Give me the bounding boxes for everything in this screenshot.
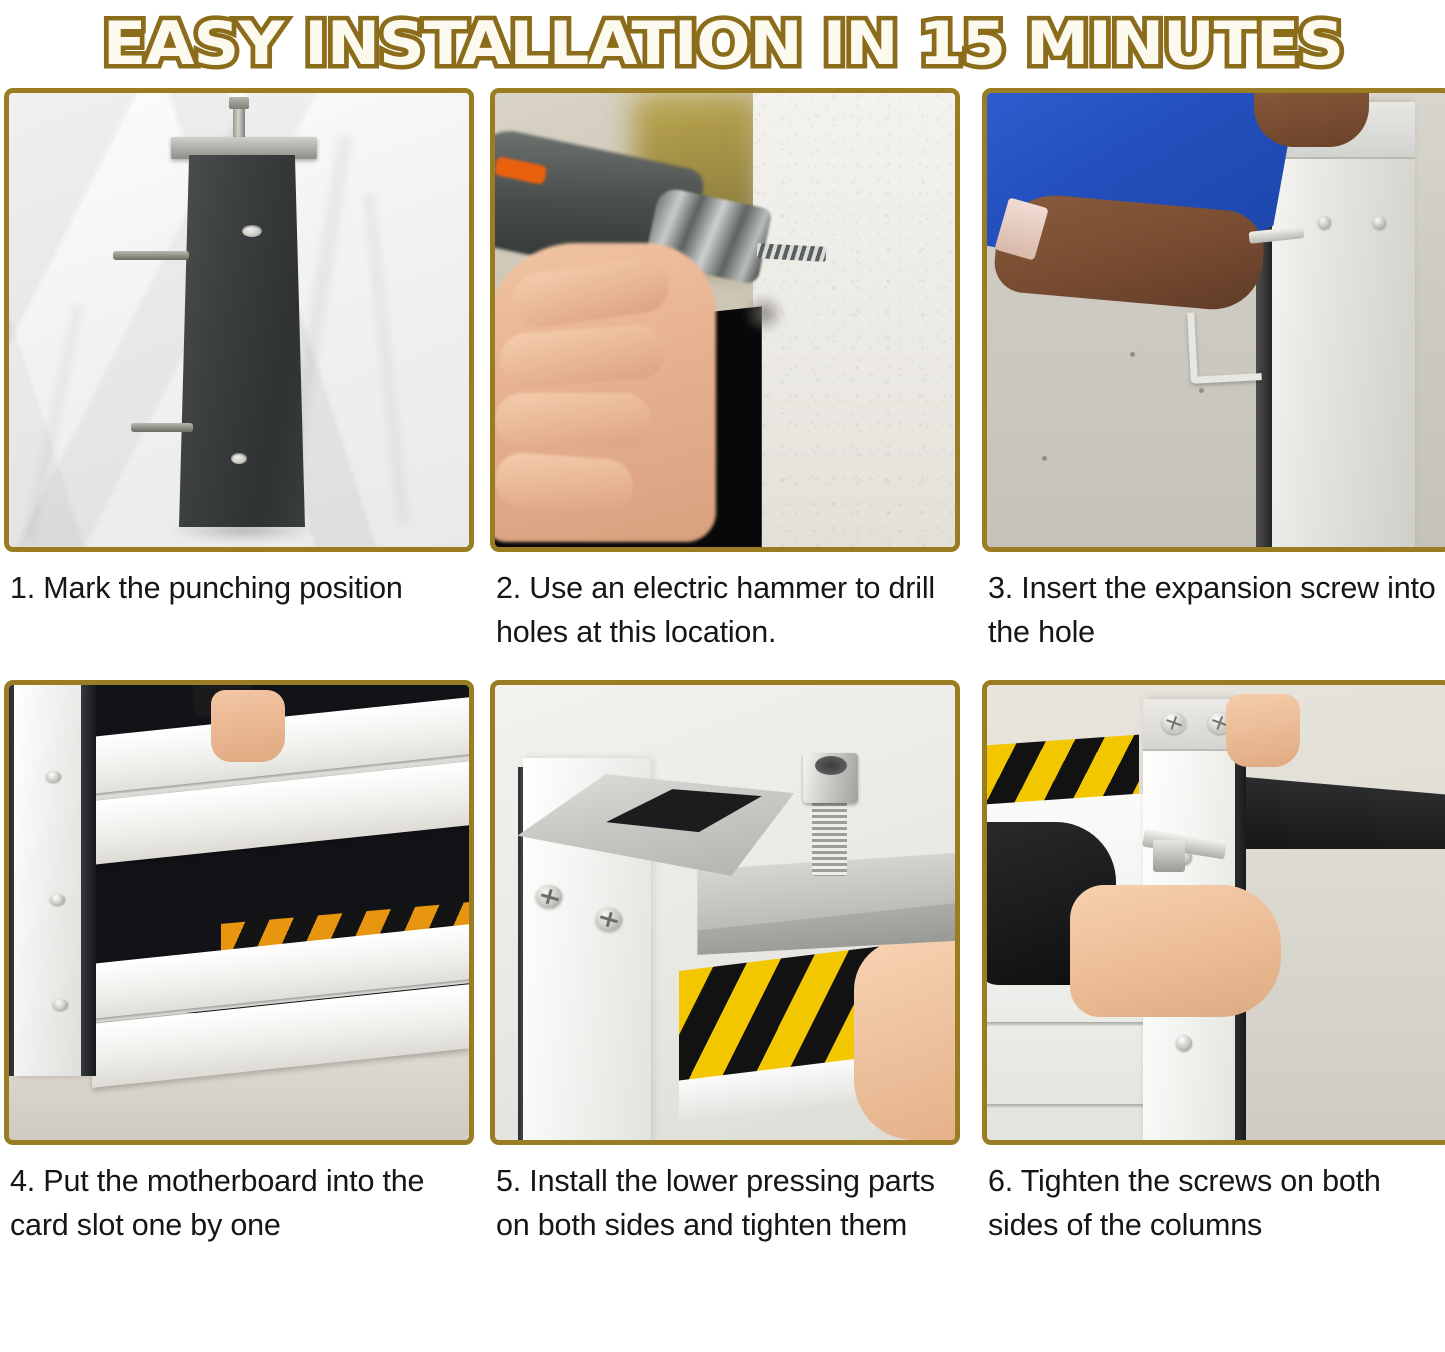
photo-1-scene xyxy=(9,93,469,547)
step-2-caption: 2. Use an electric hammer to drill holes… xyxy=(490,552,960,654)
step-6: 6. Tighten the screws on both sides of t… xyxy=(982,680,1445,1247)
finger xyxy=(495,451,635,515)
step-6-caption: 6. Tighten the screws on both sides of t… xyxy=(982,1145,1445,1247)
installer-hand xyxy=(1070,885,1282,1017)
row-spacer xyxy=(0,654,1445,680)
column-screw xyxy=(1318,216,1331,229)
side-screw-lower xyxy=(1176,1035,1192,1051)
top-bolt-head xyxy=(229,97,249,109)
step-4: 4. Put the motherboard into the card slo… xyxy=(4,680,482,1247)
installation-steps-grid-row2: 4. Put the motherboard into the card slo… xyxy=(0,680,1445,1247)
side-stud-lower xyxy=(131,423,193,432)
wrench-head xyxy=(1153,840,1185,872)
step-1: 1. Mark the punching position xyxy=(4,88,482,654)
step-2: 2. Use an electric hammer to drill holes… xyxy=(490,88,974,654)
finger xyxy=(495,393,651,447)
step-3-caption: 3. Insert the expansion screw into the h… xyxy=(982,552,1445,654)
upper-hand xyxy=(1226,694,1300,767)
photo-6-scene xyxy=(987,685,1445,1140)
panel-groove xyxy=(987,1022,1148,1026)
photo-5-scene xyxy=(495,685,955,1140)
white-column-post xyxy=(14,685,88,1076)
panel-groove xyxy=(987,1104,1148,1108)
mounting-hole-upper xyxy=(242,225,262,237)
step-4-caption: 4. Put the motherboard into the card slo… xyxy=(4,1145,474,1247)
post-screw xyxy=(53,999,68,1010)
installer-hand xyxy=(211,690,285,763)
worker-upper-hand xyxy=(1254,93,1369,147)
step-1-photo xyxy=(4,88,474,552)
white-column xyxy=(1272,102,1415,547)
installer-hand xyxy=(854,940,955,1140)
step-5: 5. Install the lower pressing parts on b… xyxy=(490,680,974,1247)
ground-speck xyxy=(1199,388,1204,393)
step-3-photo xyxy=(982,88,1445,552)
step-4-photo xyxy=(4,680,474,1145)
step-3: 3. Insert the expansion screw into the h… xyxy=(982,88,1445,654)
side-stud-upper xyxy=(113,251,189,260)
column-screw xyxy=(1373,216,1386,229)
mounting-hole-lower xyxy=(231,453,247,464)
dark-column-body xyxy=(179,155,305,527)
step-5-photo xyxy=(490,680,960,1145)
step-1-caption: 1. Mark the punching position xyxy=(4,552,474,610)
photo-4-scene xyxy=(9,685,469,1140)
hazard-stripe-board xyxy=(987,734,1139,804)
bolt-socket-hole xyxy=(815,756,847,775)
ground-speck xyxy=(1130,352,1135,357)
step-6-photo xyxy=(982,680,1445,1145)
step-2-photo xyxy=(490,88,960,552)
photo-2-scene xyxy=(495,93,955,547)
drilling-dust xyxy=(743,293,784,334)
installation-steps-grid: 1. Mark the punching position 2. Use xyxy=(0,88,1445,654)
page-title: EASY INSTALLATION IN 15 MINUTES xyxy=(102,12,1342,76)
phillips-screw xyxy=(596,908,622,931)
phillips-screw xyxy=(1162,712,1186,734)
column-card-slot xyxy=(81,685,97,1076)
photo-3-scene xyxy=(987,93,1445,547)
step-5-caption: 5. Install the lower pressing parts on b… xyxy=(490,1145,960,1247)
allen-key-on-ground xyxy=(1188,309,1263,383)
threaded-bolt-shaft xyxy=(812,794,847,876)
header-banner: EASY INSTALLATION IN 15 MINUTES xyxy=(0,0,1445,88)
